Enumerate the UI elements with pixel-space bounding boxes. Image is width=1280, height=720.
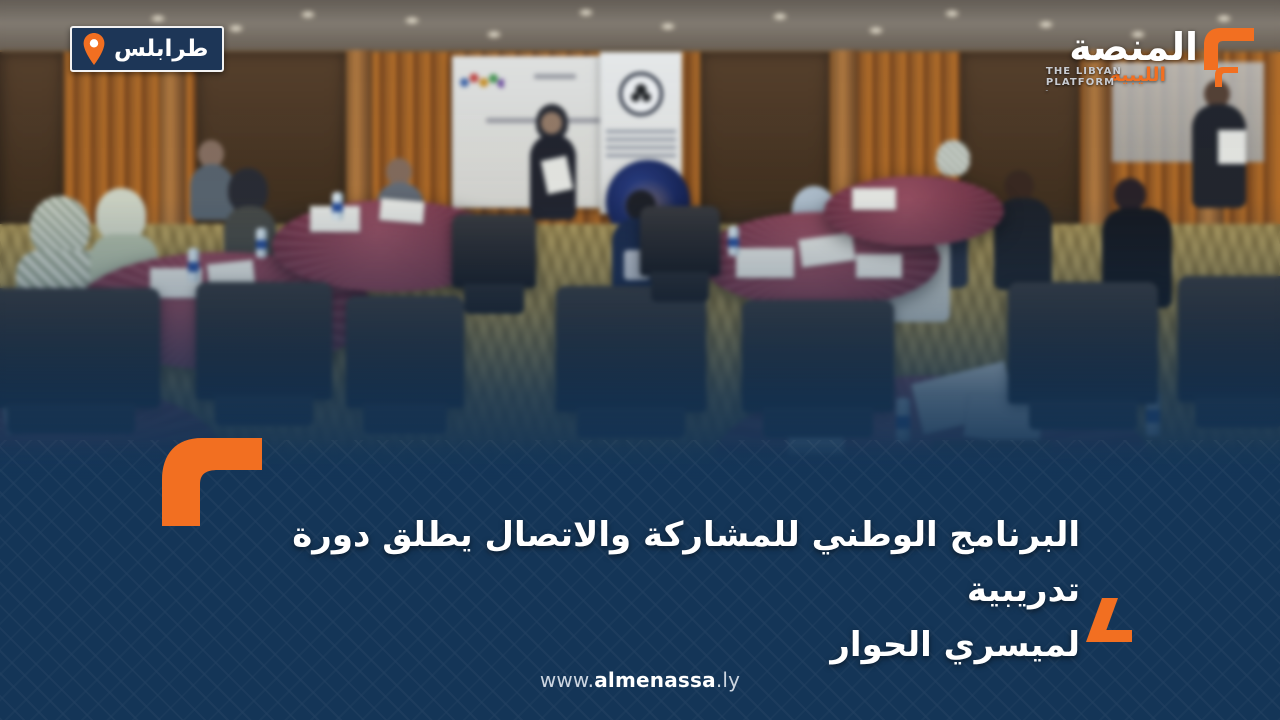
- location-badge: طرابلس: [70, 26, 224, 72]
- brand-logo: المنصة الليبية THE LIBYAN PLATFORM ـ: [1040, 14, 1262, 106]
- brand-english-line1: THE LIBYAN: [1046, 67, 1122, 78]
- brand-english-tagline: ـ: [1046, 88, 1122, 94]
- url-name: almenassa: [594, 668, 716, 692]
- location-label: طرابلس: [114, 38, 208, 61]
- url-suffix: .ly: [716, 668, 740, 692]
- headline-line-1: البرنامج الوطني للمشاركة والاتصال يطلق د…: [200, 508, 1080, 618]
- website-url[interactable]: www.almenassa.ly: [0, 668, 1280, 692]
- url-prefix: www.: [540, 668, 594, 692]
- headline: البرنامج الوطني للمشاركة والاتصال يطلق د…: [200, 508, 1080, 673]
- quote-close-mark-icon: [1084, 596, 1136, 644]
- news-graphic-card: طرابلس المنصة الليبية THE LIBYAN PLATFOR…: [0, 0, 1280, 720]
- brand-name-english: THE LIBYAN PLATFORM ـ: [1046, 67, 1122, 94]
- brand-name-arabic: المنصة: [1069, 28, 1198, 66]
- headline-line-2: لميسري الحوار: [200, 618, 1080, 673]
- brand-english-line2: PLATFORM: [1046, 78, 1122, 89]
- brand-hook-small-icon: [1214, 66, 1240, 88]
- map-pin-icon: [82, 33, 106, 65]
